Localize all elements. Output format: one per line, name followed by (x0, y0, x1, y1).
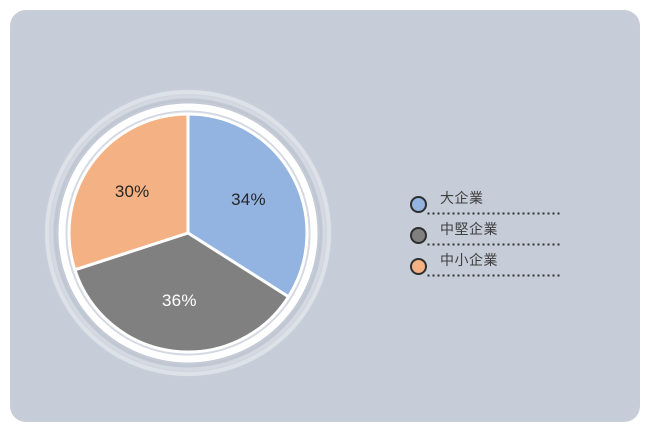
legend-item-sme[interactable]: 中小企業 (404, 250, 574, 281)
legend-item-label: 大企業 (440, 188, 484, 208)
legend-item-label: 中小企業 (440, 250, 498, 270)
chart-canvas: 34% 36% 30% 大企業 中堅企業 中小企業 (0, 0, 650, 434)
legend-item-label: 中堅企業 (440, 219, 498, 239)
pie-slices (69, 114, 307, 352)
legend-marker-icon (410, 196, 427, 213)
legend-leader-line (426, 274, 560, 277)
legend-item-midtier-enterprise[interactable]: 中堅企業 (404, 219, 574, 250)
pie-chart: 34% 36% 30% (38, 83, 338, 383)
legend-leader-line (426, 212, 560, 215)
legend-item-large-enterprise[interactable]: 大企業 (404, 188, 574, 219)
pie-chart-svg (38, 83, 338, 383)
legend-marker-icon (410, 258, 427, 275)
legend-leader-line (426, 243, 560, 246)
legend-marker-icon (410, 227, 427, 244)
chart-legend: 大企業 中堅企業 中小企業 (404, 188, 574, 281)
